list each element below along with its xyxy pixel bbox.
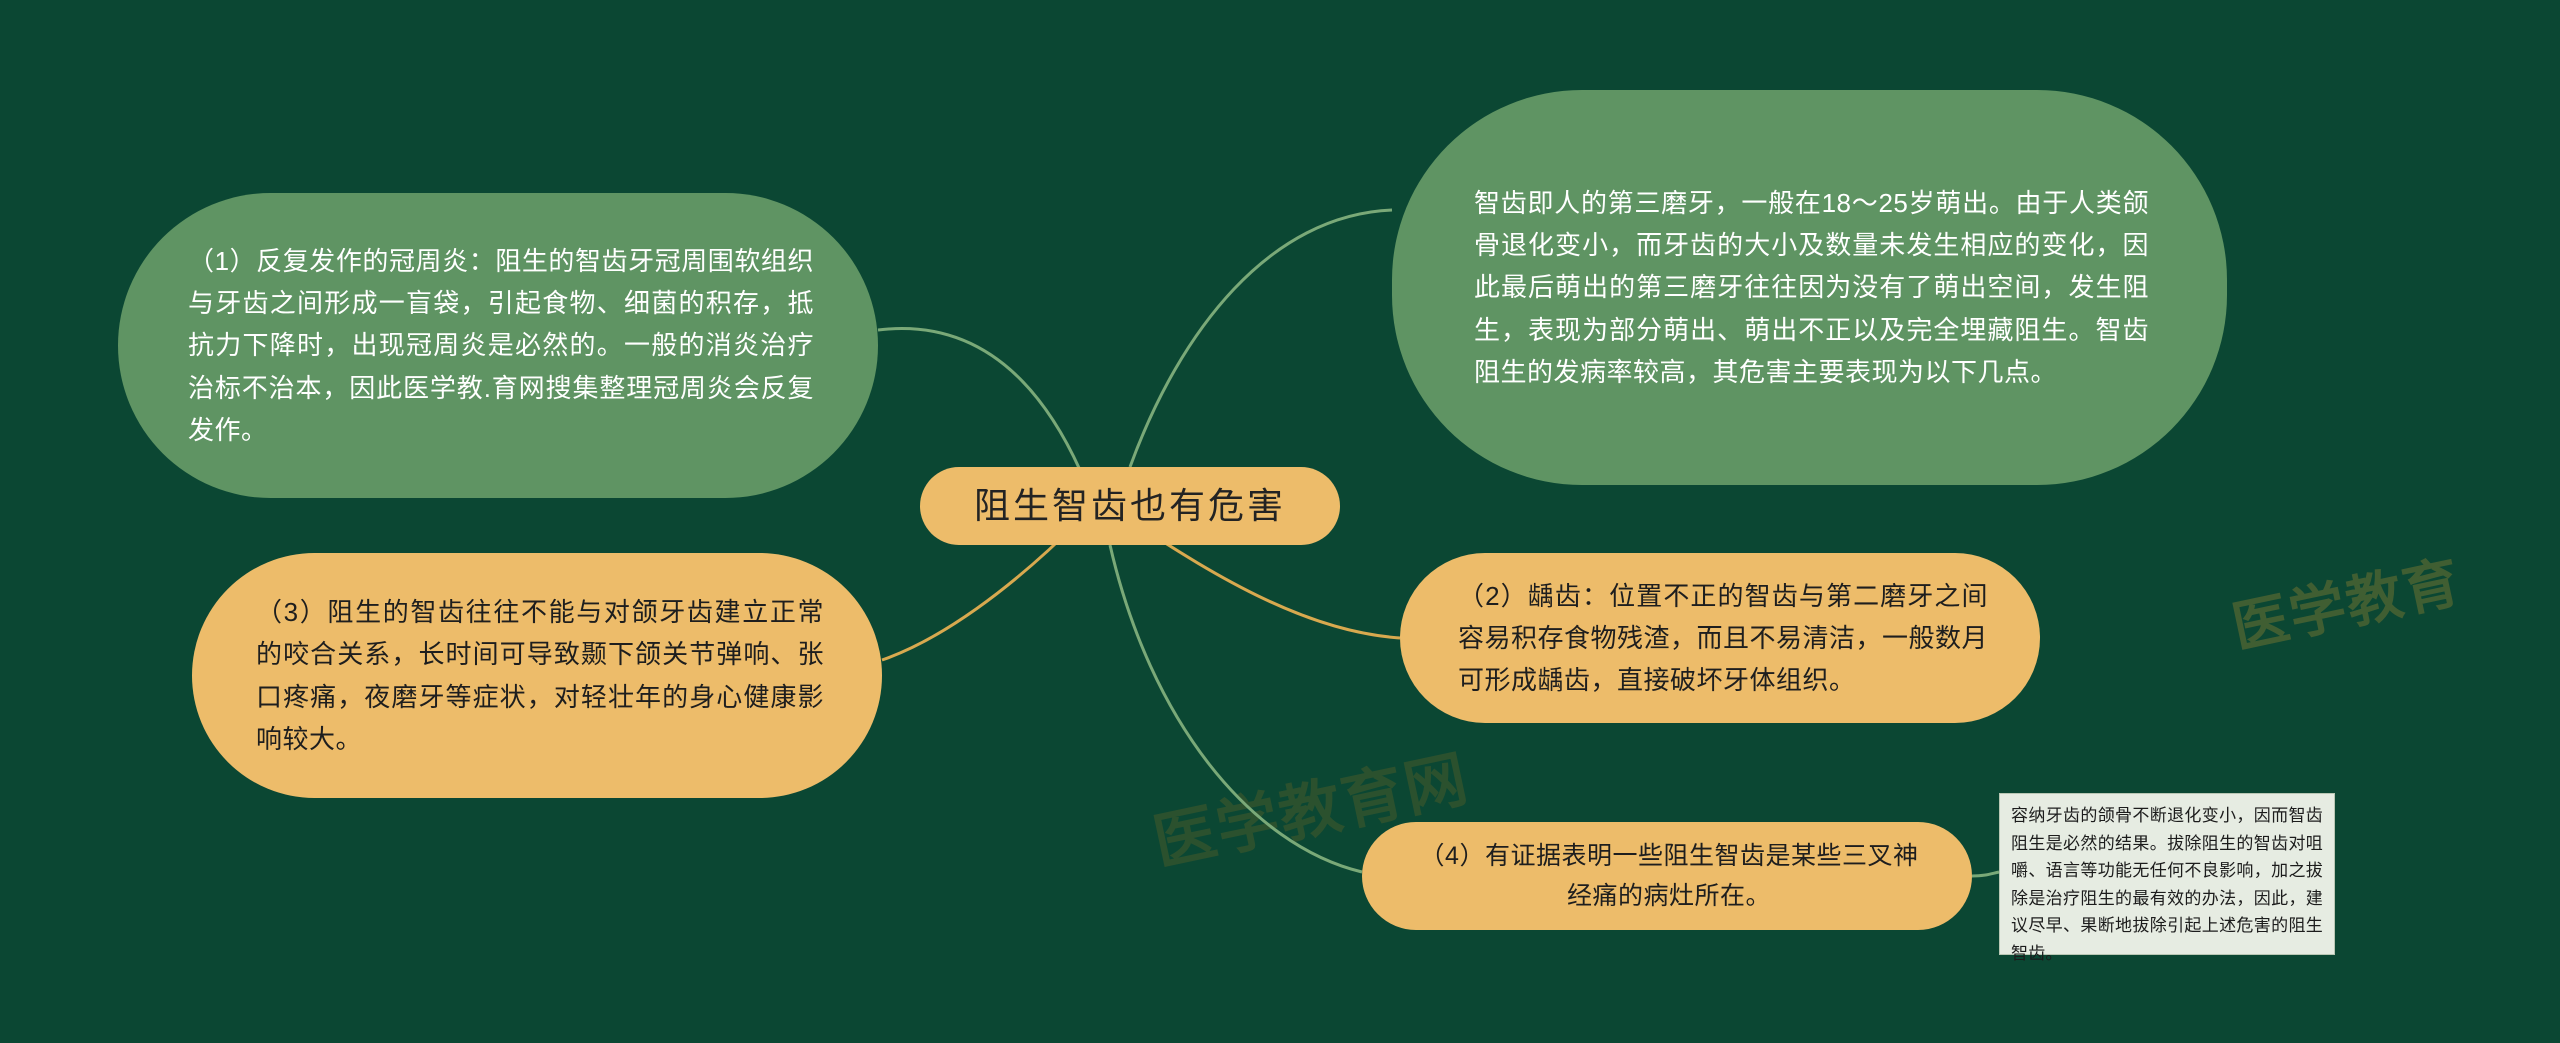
summary-note-text: 容纳牙齿的颌骨不断退化变小，因而智齿阻生是必然的结果。拔除阻生的智齿对咀嚼、语言… xyxy=(2011,806,2323,963)
branch-node-point-2[interactable]: （2）龋齿：位置不正的智齿与第二磨牙之间容易积存食物残渣，而且不易清洁，一般数月… xyxy=(1400,553,2040,723)
branch-node-point-4[interactable]: （4）有证据表明一些阻生智齿是某些三叉神经痛的病灶所在。 xyxy=(1362,822,1972,930)
branch-node-point-3-text: （3）阻生的智齿往往不能与对颌牙齿建立正常的咬合关系，长时间可导致颞下颌关节弹响… xyxy=(256,591,824,759)
branch-node-point-2-text: （2）龋齿：位置不正的智齿与第二磨牙之间容易积存食物残渣，而且不易清洁，一般数月… xyxy=(1458,575,1988,701)
center-topic-node[interactable]: 阻生智齿也有危害 xyxy=(920,467,1340,545)
branch-node-point-4-text: （4）有证据表明一些阻生智齿是某些三叉神经痛的病灶所在。 xyxy=(1418,836,1920,917)
branch-node-point-3[interactable]: （3）阻生的智齿往往不能与对颌牙齿建立正常的咬合关系，长时间可导致颞下颌关节弹响… xyxy=(192,553,882,798)
branch-node-intro[interactable]: 智齿即人的第三磨牙，一般在18～25岁萌出。由于人类颌骨退化变小，而牙齿的大小及… xyxy=(1392,90,2227,485)
link-point-4-to-note xyxy=(1972,872,1999,876)
summary-note-box: 容纳牙齿的颌骨不断退化变小，因而智齿阻生是必然的结果。拔除阻生的智齿对咀嚼、语言… xyxy=(1999,793,2335,955)
branch-node-point-1-text: （1）反复发作的冠周炎：阻生的智齿牙冠周围软组织与牙齿之间形成一盲袋，引起食物、… xyxy=(188,240,814,451)
link-center-to-point-1 xyxy=(878,329,1080,470)
link-center-to-intro xyxy=(1130,210,1392,467)
watermark-corner: 医学教育 xyxy=(2224,537,2468,664)
mindmap-canvas: shuutu.cn shuutu.cn 医学教育网 医学教育 智齿即人的第三磨牙… xyxy=(0,0,2560,1043)
center-topic-title: 阻生智齿也有危害 xyxy=(944,477,1316,535)
branch-node-point-1[interactable]: （1）反复发作的冠周炎：阻生的智齿牙冠周围软组织与牙齿之间形成一盲袋，引起食物、… xyxy=(118,193,878,498)
branch-node-intro-text: 智齿即人的第三磨牙，一般在18～25岁萌出。由于人类颌骨退化变小，而牙齿的大小及… xyxy=(1474,182,2149,393)
link-center-to-point-4 xyxy=(1110,545,1362,872)
